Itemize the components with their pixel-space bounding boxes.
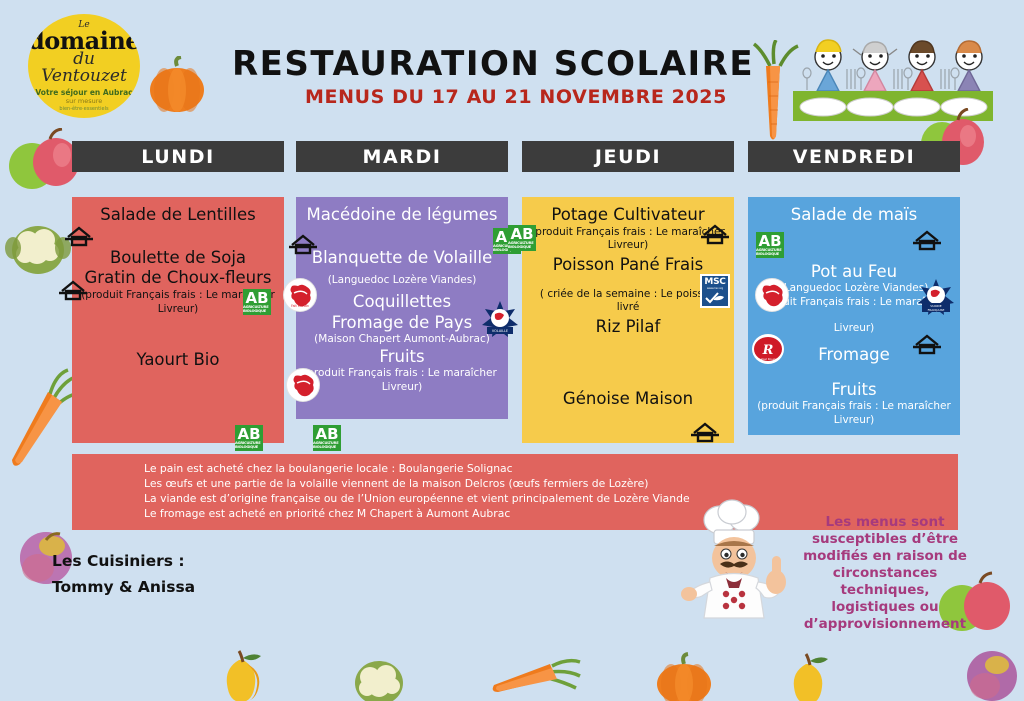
warning-line: circonstances techniques, [798, 565, 972, 599]
warning-line: logistiques ou [798, 599, 972, 616]
maison-icon [912, 228, 942, 258]
warning-line: Les menus sont [798, 514, 972, 531]
dish-item: Riz Pilaf [528, 317, 728, 338]
day-header-vendredi: VENDREDI [748, 141, 960, 172]
dish-note: Livreur) [302, 381, 502, 395]
pear-icon [782, 650, 842, 701]
ab-label: AB [510, 227, 533, 242]
ab-label: AB [758, 234, 781, 249]
cooks-names: Tommy & Anissa [52, 574, 195, 600]
dish-note: Livreur) [754, 414, 954, 428]
info-line: Le pain est acheté chez la boulangerie l… [144, 461, 958, 476]
maison-icon [64, 224, 94, 254]
chef-france-icon [755, 278, 789, 312]
dish-note: (produit Français frais : Le maraîcher [528, 226, 728, 240]
maison-icon [58, 278, 88, 308]
dish-item: Poisson Pané Frais [528, 255, 728, 276]
pumpkin-icon [652, 652, 716, 701]
ab-sublabel: AGRICULTURE BIOLOGIQUE [243, 306, 271, 313]
svg-text:FRANÇAISE: FRANÇAISE [928, 308, 945, 312]
day-header-jeudi: JEUDI [522, 141, 734, 172]
logo-line-6: bien-être·essentiels [59, 107, 108, 112]
dish-note: ( criée de la semaine : Le poisson livré [528, 288, 728, 315]
menu-change-warning: Les menus sont susceptibles d’être modif… [798, 514, 972, 633]
msc-sublabel: www.msc.org [707, 287, 723, 290]
pear-icon [213, 648, 273, 701]
spacer [302, 226, 502, 248]
ab-icon: AB AGRICULTURE BIOLOGIQUE [508, 225, 536, 251]
chef-mascot-icon [680, 498, 790, 623]
warning-line: susceptibles d’être [798, 531, 972, 548]
carrots-icon [740, 40, 810, 150]
svg-text:VOLAILLE: VOLAILLE [492, 329, 508, 333]
maison-icon [912, 332, 942, 362]
ab-sublabel: AGRICULTURE BIOLOGIQUE [756, 249, 784, 256]
cooks-label: Les Cuisiniers : [52, 548, 195, 574]
cauliflower-icon [4, 218, 72, 280]
cooks-block: Les Cuisiniers : Tommy & Anissa [52, 548, 195, 600]
dish-note: (Languedoc Lozère Viandes) [302, 274, 502, 288]
pumpkin-icon [146, 56, 208, 114]
label-rouge-icon: R Label Rouge [752, 334, 784, 364]
cauliflower-icon [348, 655, 410, 701]
dish-item: Fruits [302, 347, 502, 368]
ab-icon: AB AGRICULTURE BIOLOGIQUE [756, 232, 784, 258]
logo-line-5: sur mesure [66, 98, 103, 105]
ab-label: AB [237, 427, 260, 442]
menu-poster: Le domaine du Ventouzet Votre séjour en … [0, 0, 1024, 701]
msc-label: MSC [704, 277, 725, 287]
page-title: RESTAURATION SCOLAIRE [232, 44, 754, 84]
dish-item: Gratin de Choux-fleurs [78, 268, 278, 289]
logo-line-3: du Ventouzet [28, 51, 140, 85]
ab-icon: AB AGRICULTURE BIOLOGIQUE [313, 425, 341, 451]
menu-card-mardi: Macédoine de légumes Blanquette de Volai… [296, 197, 508, 419]
dish-item: Fromage de Pays [302, 313, 502, 334]
page-subtitle: MENUS DU 17 AU 21 NOVEMBRE 2025 [305, 86, 727, 108]
dish-item: Coquillettes [302, 292, 502, 313]
logo-line-4: Votre séjour en Aubrac [35, 89, 132, 97]
dish-item: Salade de maïs [754, 205, 954, 226]
ab-icon: AB AGRICULTURE BIOLOGIQUE [243, 289, 271, 315]
warning-line: d’approvisionnement [798, 616, 972, 633]
spacer [528, 276, 728, 288]
warning-line: modifiés en raison de [798, 548, 972, 565]
maison-icon [288, 232, 318, 262]
carrots-icon [490, 652, 598, 701]
day-header-mardi: MARDI [296, 141, 508, 172]
chef-france-icon [286, 368, 320, 402]
ab-label: AB [315, 427, 338, 442]
svg-text:Fait Maison: Fait Maison [291, 304, 309, 308]
dish-item: Blanquette de Volaille [302, 248, 502, 269]
ab-sublabel: AGRICULTURE BIOLOGIQUE [313, 442, 341, 449]
msc-icon: MSC www.msc.org [700, 274, 730, 308]
dish-item: Salade de Lentilles [78, 205, 278, 226]
menu-card-lundi: Salade de Lentilles Boulette de Soja Gra… [72, 197, 284, 443]
info-line: La viande est d’origine française ou de … [144, 491, 958, 506]
chef-france-icon: Fait Maison [283, 278, 317, 312]
turnip-icon [963, 648, 1021, 701]
volaille-francaise-icon: VOLAILLE [480, 300, 520, 342]
dish-note: Livreur) [528, 239, 728, 253]
ab-icon: AB AGRICULTURE BIOLOGIQUE [235, 425, 263, 451]
maison-icon [700, 222, 730, 252]
spacer [78, 226, 278, 248]
ab-label: AB [245, 291, 268, 306]
day-header-lundi: LUNDI [72, 141, 284, 172]
domaine-ventouzet-logo: Le domaine du Ventouzet Votre séjour en … [28, 14, 140, 118]
ab-sublabel: AGRICULTURE BIOLOGIQUE [235, 442, 263, 449]
svg-text:R: R [762, 343, 774, 358]
maison-icon [690, 420, 720, 450]
dish-item: Génoise Maison [528, 389, 728, 410]
svg-text:Label Rouge: Label Rouge [759, 357, 778, 361]
info-line: Les œufs et une partie de la volaille vi… [144, 476, 958, 491]
spacer [528, 337, 728, 371]
dish-note: (Maison Chapert Aumont-Aubrac) [302, 333, 502, 347]
viande-bovine-francaise-icon: VIANDE FRANÇAISE [916, 278, 956, 320]
dish-note: (produit Français frais : Le maraîcher [754, 400, 954, 414]
dish-item: Fruits [754, 380, 954, 401]
dish-item: Boulette de Soja [78, 248, 278, 269]
ab-sublabel: AGRICULTURE BIOLOGIQUE [508, 242, 536, 249]
dish-item: Yaourt Bio [78, 350, 278, 371]
dish-note: produit Français frais : Le maraîcher [302, 367, 502, 381]
spacer [78, 316, 278, 350]
dish-item: Potage Cultivateur [528, 205, 728, 226]
dish-item: Macédoine de légumes [302, 205, 502, 226]
